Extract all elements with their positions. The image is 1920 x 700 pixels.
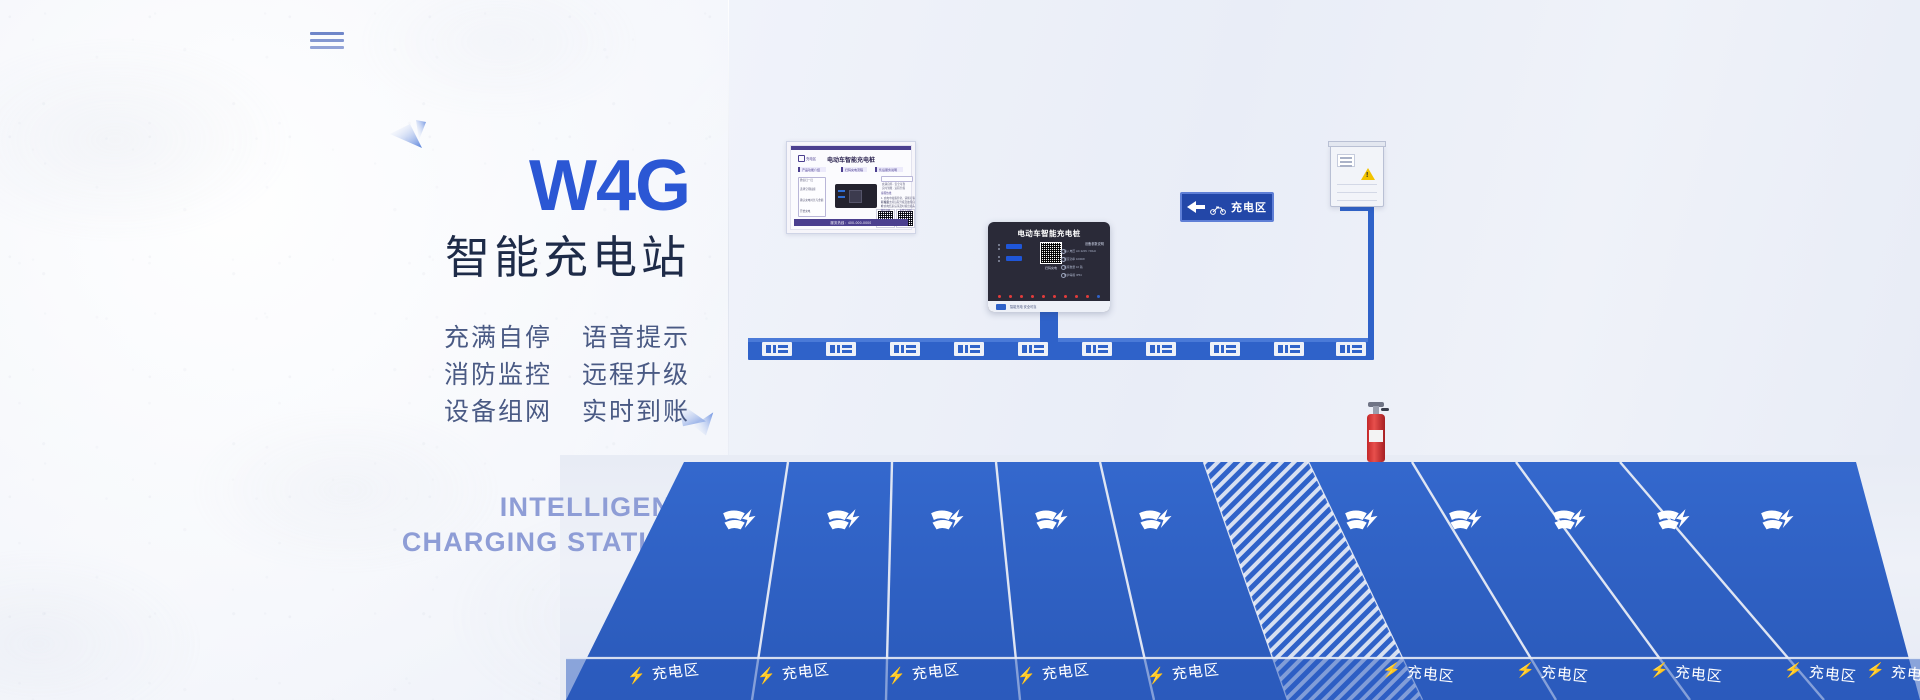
scooter-icon	[1210, 202, 1226, 213]
poster-footer: 服务热线：400-000-0000	[794, 219, 908, 226]
pile-spec-item: 额定功率 1000W	[1064, 257, 1104, 261]
pile-status-led-row	[998, 295, 1100, 298]
hamburger-bar	[310, 39, 344, 42]
feature-item: 充满自停	[444, 320, 552, 357]
extinguisher-label	[1369, 430, 1383, 442]
hero-copy: W4G 智能充电站 充满自停 语音提示 消防监控 远程升级 设备组网 实时到账	[300, 150, 690, 431]
pile-spec-item: 输入电压 AC 220V / 50Hz	[1064, 249, 1104, 253]
poster-step-1: 微信扫一扫	[800, 179, 824, 183]
warning-triangle-icon	[1361, 168, 1375, 180]
wall-socket[interactable]	[826, 342, 856, 356]
pile-brand-mark	[996, 304, 1006, 310]
wall-poster-board: 充电区 电动车智能充电桩 产品功能介绍 扫码充电流程 售后服务说明 微信扫一扫 …	[786, 141, 916, 234]
feature-row: 消防监控 远程升级	[300, 357, 690, 394]
electrical-cabinet	[1330, 145, 1384, 207]
wall-right-panel	[729, 0, 1920, 470]
feature-item: 实时到账	[582, 394, 690, 431]
poster-step-2: 选择空闲插座	[800, 188, 824, 192]
hamburger-menu-icon[interactable]	[310, 32, 344, 53]
wall-socket[interactable]	[762, 342, 792, 356]
wall-socket[interactable]	[1082, 342, 1112, 356]
feature-list: 充满自停 语音提示 消防监控 远程升级 设备组网 实时到账	[300, 320, 690, 431]
poster-title: 电动车智能充电桩	[791, 155, 911, 164]
hamburger-bar	[310, 46, 344, 49]
parking-lot-area: ⚡ 充电区⚡ 充电区⚡ 充电区⚡ 充电区⚡ 充电区⚡ 充电区⚡ 充电区⚡ 充电区…	[566, 462, 1920, 700]
wall-socket[interactable]	[890, 342, 920, 356]
direction-sign[interactable]: 充电区	[1180, 192, 1274, 222]
wall-socket[interactable]	[1018, 342, 1048, 356]
pile-led-display	[1006, 256, 1022, 261]
extinguisher-hose	[1381, 408, 1389, 411]
wall-seam	[728, 0, 729, 470]
pile-brand-text: 智能充电 安全可靠	[1010, 304, 1036, 309]
poster-qr-alipay-caption: 支付宝扫码	[897, 208, 914, 212]
cabinet-conduit-vertical	[1368, 205, 1374, 345]
poster-service-head: 客服热线	[881, 192, 915, 196]
hero-banner: W4G 智能充电站 充满自停 语音提示 消防监控 远程升级 设备组网 实时到账 …	[0, 0, 1920, 700]
poster-device-led	[838, 190, 845, 192]
wall-socket-strip	[748, 338, 1374, 360]
hero-subtitle: 智能充电站	[300, 232, 690, 284]
pile-led-display	[1006, 244, 1022, 249]
hamburger-bar	[310, 32, 344, 35]
feature-item: 远程升级	[582, 357, 690, 394]
pile-indicator-dot	[998, 256, 1000, 258]
charging-pile-unit[interactable]: 电动车智能充电桩 扫码充电 设备参数说明 输入电压 AC 220V / 50Hz…	[988, 222, 1110, 312]
poster-header-bar	[791, 146, 911, 150]
feature-item: 语音提示	[582, 320, 690, 357]
feature-item: 设备组网	[444, 394, 552, 431]
poster-device-screen	[849, 190, 862, 203]
wall-socket[interactable]	[1210, 342, 1240, 356]
feature-row: 设备组网 实时到账	[300, 394, 690, 431]
direction-sign-label: 充电区	[1231, 199, 1267, 215]
left-arrow-shaft	[1195, 205, 1205, 209]
wall-socket[interactable]	[1146, 342, 1176, 356]
poster-device-image	[835, 184, 877, 208]
cabinet-divider	[1337, 192, 1377, 193]
cabinet-top-cap	[1328, 141, 1386, 147]
poster-tag-right: 售后服务说明	[875, 167, 903, 172]
pile-spec-item: 防护等级 IP54	[1064, 273, 1104, 277]
poster-tag-mid: 扫码充电流程	[841, 167, 867, 172]
wall-socket[interactable]	[1336, 342, 1366, 356]
pile-riser-post	[1040, 310, 1058, 342]
poster-tag-left: 产品功能介绍	[798, 167, 826, 172]
pile-spec-item: 插座数量 10 路	[1064, 265, 1104, 269]
poster-device-led	[838, 196, 845, 198]
brand-title: W4G	[300, 150, 690, 222]
poster-inner: 充电区 电动车智能充电桩 产品功能介绍 扫码充电流程 售后服务说明 微信扫一扫 …	[790, 145, 912, 230]
poster-note-box	[881, 176, 913, 182]
wall-socket[interactable]	[954, 342, 984, 356]
pile-indicator-dot	[998, 244, 1000, 246]
poster-step-4: 开始充电	[800, 210, 824, 214]
cabinet-meter-panel	[1337, 154, 1355, 167]
poster-mid-note-2: 实时到账 · 远程升级	[882, 187, 914, 191]
poster-step-3: 确认充电时长与金额	[800, 199, 824, 203]
charging-pile-title: 电动车智能充电桩	[988, 228, 1110, 239]
feature-item: 消防监控	[444, 357, 552, 394]
pile-indicator-dot	[998, 248, 1000, 250]
pile-footer-brand: 智能充电 安全可靠	[988, 301, 1110, 312]
wall-socket[interactable]	[1274, 342, 1304, 356]
feature-row: 充满自停 语音提示	[300, 320, 690, 357]
pile-indicator-dot	[998, 260, 1000, 262]
pile-qr-code[interactable]	[1040, 242, 1062, 264]
cabinet-divider	[1337, 184, 1377, 185]
pile-spec-heading: 设备参数说明	[1085, 241, 1104, 246]
poster-qr-wechat-caption: 微信扫码	[877, 208, 894, 212]
cabinet-divider	[1337, 200, 1377, 201]
fire-extinguisher	[1365, 400, 1387, 462]
